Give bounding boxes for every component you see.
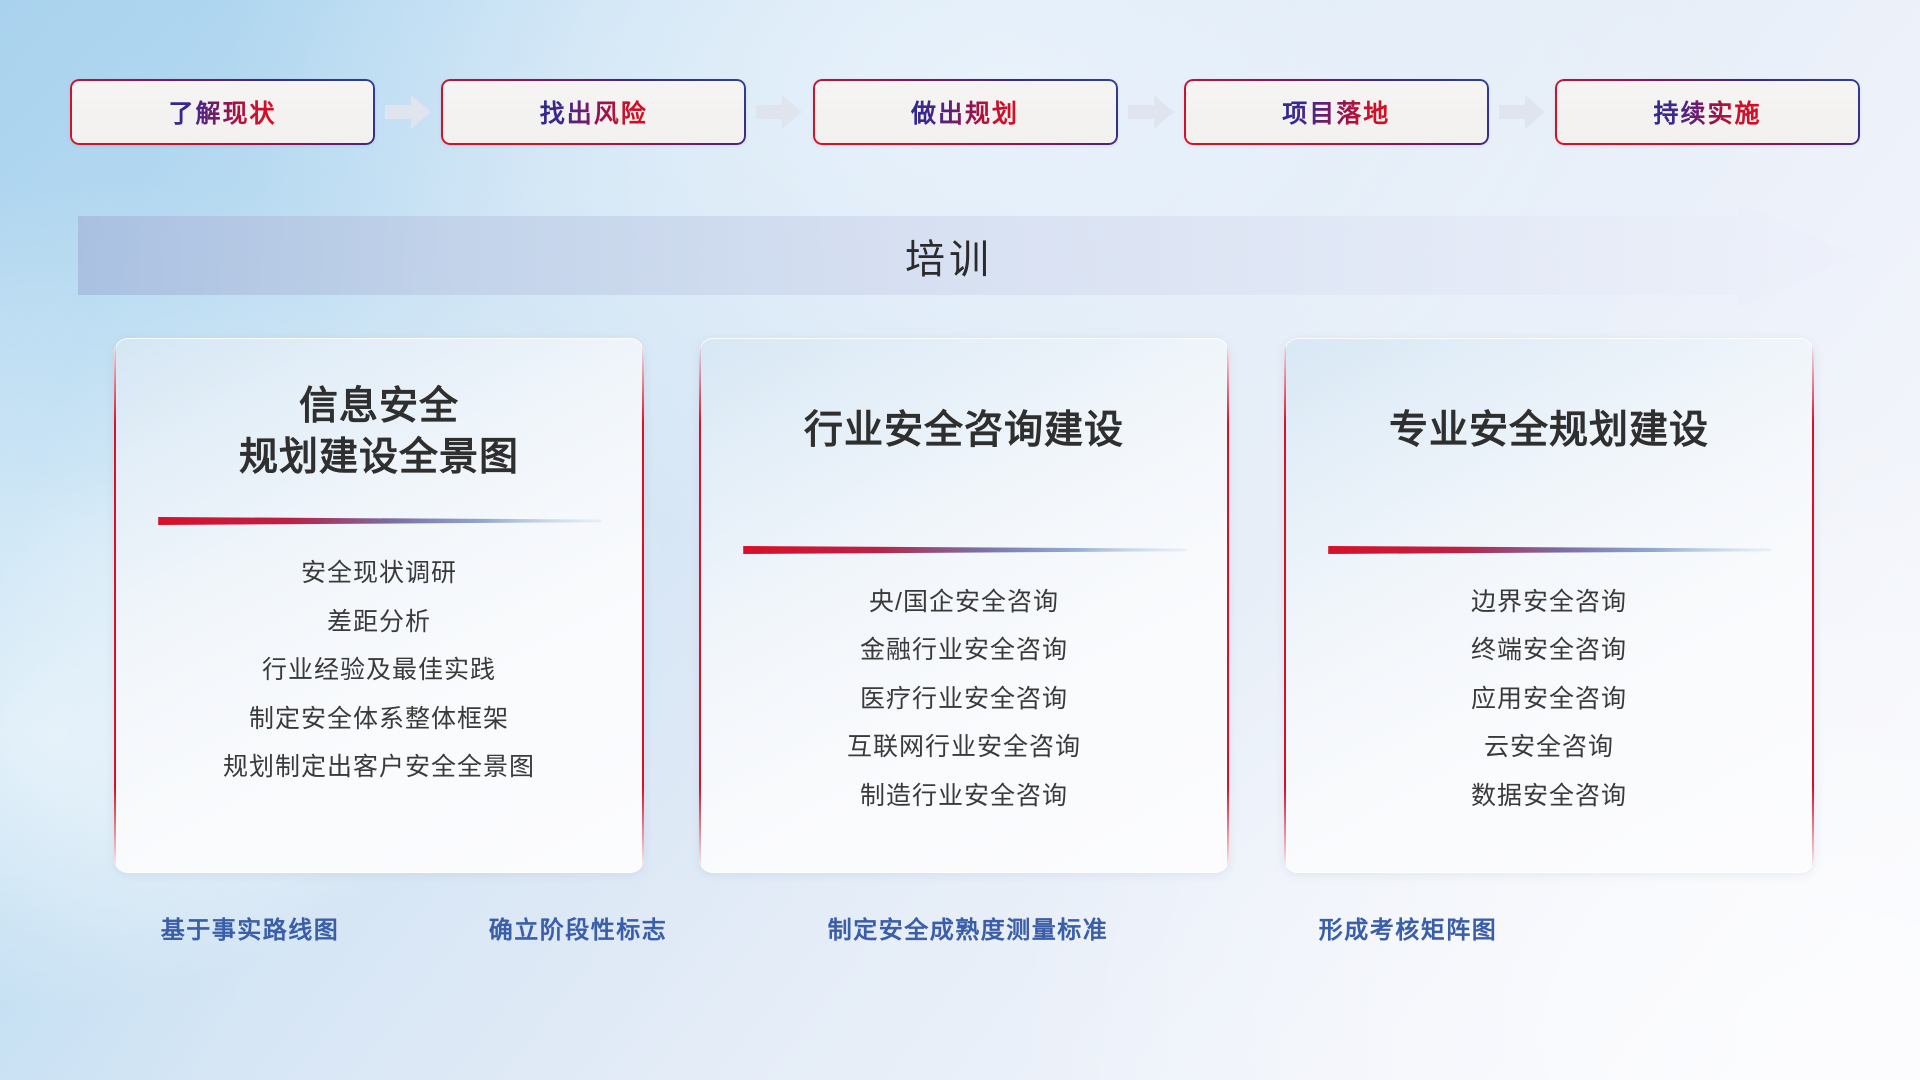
footer-label-1: 基于事实路线图 <box>161 910 340 945</box>
step-arrow-1 <box>375 92 441 132</box>
list-item: 央/国企安全咨询 <box>869 584 1059 622</box>
training-banner-label: 培训 <box>905 227 993 285</box>
footer-label-2: 确立阶段性标志 <box>489 910 668 945</box>
step-chip-label: 持续实施 <box>1653 94 1761 130</box>
card-item-list: 安全现状调研 差距分析 行业经验及最佳实践 制定安全体系整体框架 规划制定出客户… <box>114 555 644 787</box>
step-arrow-4 <box>1489 92 1555 132</box>
list-item: 边界安全咨询 <box>1471 584 1627 622</box>
card-professional-security-planning[interactable]: 专业安全规划建设 边界安全咨询 <box>1284 338 1814 873</box>
step-chip-4[interactable]: 项目落地 <box>1184 79 1489 145</box>
list-item: 终端安全咨询 <box>1471 632 1627 670</box>
card-divider <box>741 542 1186 558</box>
list-item: 数据安全咨询 <box>1471 778 1627 816</box>
step-arrow-3 <box>1118 92 1184 132</box>
step-chip-label: 找出风险 <box>540 94 648 130</box>
card-item-list: 边界安全咨询 终端安全咨询 应用安全咨询 云安全咨询 数据安全咨询 <box>1284 584 1814 816</box>
footer-label-4: 形成考核矩阵图 <box>1319 910 1498 945</box>
list-item: 金融行业安全咨询 <box>860 632 1068 670</box>
step-arrow-2 <box>746 92 812 132</box>
list-item: 规划制定出客户安全全景图 <box>223 749 535 787</box>
list-item: 应用安全咨询 <box>1471 681 1627 719</box>
card-title: 行业安全咨询建设 <box>699 406 1229 457</box>
step-chip-3[interactable]: 做出规划 <box>813 79 1118 145</box>
step-chip-label: 项目落地 <box>1282 94 1390 130</box>
step-chip-label: 了解现状 <box>168 94 276 130</box>
list-item: 云安全咨询 <box>1484 729 1614 767</box>
step-chip-1[interactable]: 了解现状 <box>70 79 375 145</box>
list-item: 制定安全体系整体框架 <box>249 701 509 739</box>
step-chip-5[interactable]: 持续实施 <box>1555 79 1860 145</box>
list-item: 制造行业安全咨询 <box>860 778 1068 816</box>
card-divider <box>1326 542 1771 558</box>
card-title: 专业安全规划建设 <box>1284 406 1814 457</box>
training-banner-label-wrap: 培训 <box>78 203 1860 308</box>
card-info-security-panorama[interactable]: 信息安全 规划建设全景图 安全现状调研 <box>114 338 644 873</box>
card-row: 信息安全 规划建设全景图 安全现状调研 <box>114 338 1814 873</box>
slide-canvas: 了解现状 找出风险 做出规划 项目落地 <box>0 0 1920 1080</box>
list-item: 医疗行业安全咨询 <box>860 681 1068 719</box>
process-step-row: 了解现状 找出风险 做出规划 项目落地 <box>70 78 1860 146</box>
list-item: 差距分析 <box>327 604 431 642</box>
step-chip-2[interactable]: 找出风险 <box>441 79 746 145</box>
step-chip-label: 做出规划 <box>911 94 1019 130</box>
footer-label-row: 基于事实路线图 确立阶段性标志 制定安全成熟度测量标准 形成考核矩阵图 <box>0 910 1920 960</box>
card-industry-security-consulting[interactable]: 行业安全咨询建设 央/国企安全咨询 <box>699 338 1229 873</box>
list-item: 安全现状调研 <box>301 555 457 593</box>
card-divider <box>156 513 601 529</box>
list-item: 互联网行业安全咨询 <box>847 729 1081 767</box>
card-title: 信息安全 规划建设全景图 <box>114 382 644 483</box>
list-item: 行业经验及最佳实践 <box>262 652 496 690</box>
footer-label-3: 制定安全成熟度测量标准 <box>828 910 1109 945</box>
card-item-list: 央/国企安全咨询 金融行业安全咨询 医疗行业安全咨询 互联网行业安全咨询 制造行… <box>699 584 1229 816</box>
